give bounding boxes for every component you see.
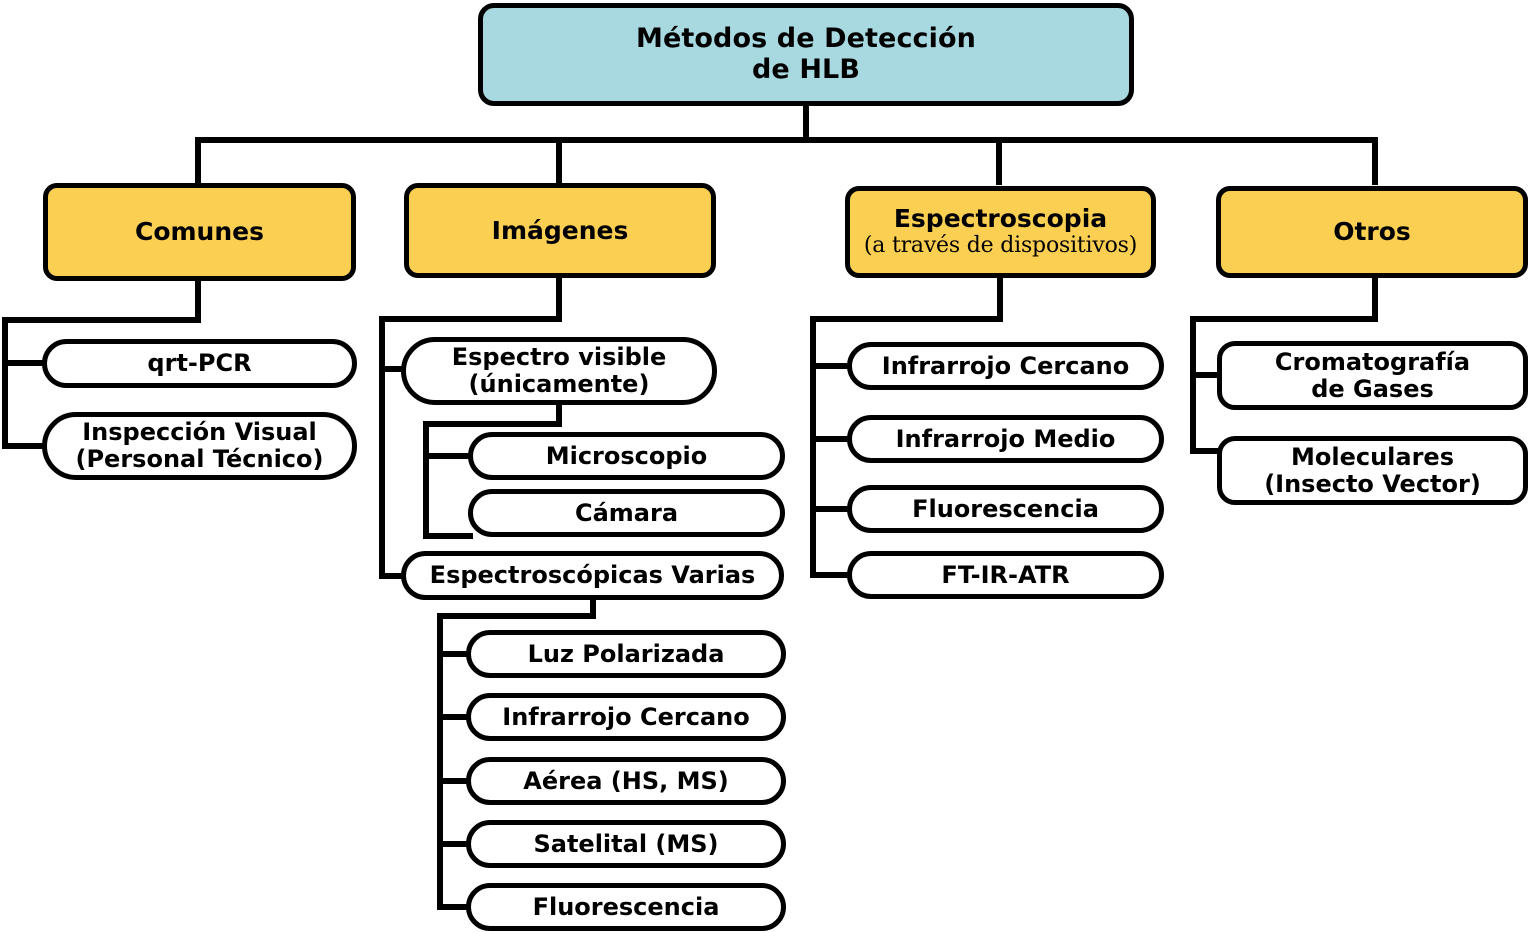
node-category-comunes-label: Comunes — [135, 218, 264, 246]
node-leaf-inspeccion-visual-line1: Inspección Visual — [82, 419, 317, 446]
diagram-canvas: Métodos de Detección de HLB Comunes qrt-… — [0, 0, 1532, 932]
node-leaf-aerea-hs-ms-label: Aérea (HS, MS) — [523, 768, 728, 795]
node-category-espectroscopia-label: Espectroscopia — [894, 205, 1107, 233]
node-leaf-infrarrojo-cercano-esp[interactable]: Infrarrojo Cercano — [847, 342, 1164, 390]
connector-otros-stem — [1372, 278, 1378, 320]
node-leaf-espectro-visible-line1: Espectro visible — [452, 344, 667, 371]
node-leaf-fluorescencia-img[interactable]: Fluorescencia — [466, 883, 786, 931]
node-category-imagenes-label: Imágenes — [492, 217, 629, 245]
node-root-metodos-deteccion-hlb[interactable]: Métodos de Detección de HLB — [478, 3, 1134, 106]
node-category-espectroscopia-subtitle: (a través de dispositivos) — [864, 234, 1137, 259]
node-leaf-camara-label: Cámara — [575, 500, 678, 527]
connector-comunes-rail — [2, 317, 8, 449]
node-category-espectroscopia[interactable]: Espectroscopia (a través de dispositivos… — [845, 186, 1156, 278]
node-leaf-fluorescencia-esp-label: Fluorescencia — [912, 496, 1099, 523]
node-leaf-moleculares-line1: Moleculares — [1291, 444, 1454, 471]
node-leaf-camara[interactable]: Cámara — [468, 489, 785, 537]
connector-drop-otros — [1372, 137, 1378, 185]
node-leaf-moleculares-insecto-vector[interactable]: Moleculares (Insecto Vector) — [1217, 436, 1528, 505]
connector-espectroscopia-tick-4 — [810, 572, 852, 578]
node-root-label-line2: de HLB — [752, 55, 860, 85]
node-leaf-qrt-pcr[interactable]: qrt-PCR — [42, 339, 357, 388]
node-category-comunes[interactable]: Comunes — [43, 183, 356, 281]
node-leaf-espectro-visible-line2: (únicamente) — [469, 371, 650, 398]
node-leaf-fluorescencia-img-label: Fluorescencia — [533, 894, 720, 921]
connector-imagenes-elbow — [379, 316, 562, 322]
node-leaf-espectroscopicas-varias-label: Espectroscópicas Varias — [430, 562, 756, 589]
connector-espectroscopicas-rail — [437, 613, 443, 910]
connector-espectroscopia-elbow — [810, 316, 1003, 322]
node-category-otros[interactable]: Otros — [1216, 186, 1528, 278]
node-leaf-espectro-visible[interactable]: Espectro visible (únicamente) — [401, 337, 717, 405]
node-root-label-line1: Métodos de Detección — [636, 24, 976, 54]
node-leaf-luz-polarizada-label: Luz Polarizada — [528, 641, 725, 668]
node-leaf-espectroscopicas-varias[interactable]: Espectroscópicas Varias — [401, 551, 784, 600]
node-leaf-ft-ir-atr-label: FT-IR-ATR — [941, 562, 1069, 589]
node-leaf-cromatografia-line2: de Gases — [1311, 376, 1434, 403]
node-leaf-cromatografia-line1: Cromatografía — [1275, 349, 1470, 376]
connector-espectro-visible-tick-2 — [423, 533, 473, 539]
node-leaf-moleculares-line2: (Insecto Vector) — [1264, 471, 1481, 498]
node-leaf-luz-polarizada[interactable]: Luz Polarizada — [466, 630, 786, 678]
connector-espectro-visible-rail — [423, 421, 429, 539]
connector-otros-rail — [1190, 316, 1196, 454]
connector-espectro-visible-tick-1 — [423, 453, 473, 459]
node-leaf-microscopio-label: Microscopio — [546, 443, 708, 470]
connector-drop-espectroscopia — [996, 137, 1002, 185]
connector-main-rail — [195, 137, 1378, 143]
node-leaf-qrt-pcr-label: qrt-PCR — [147, 350, 251, 377]
node-leaf-inspeccion-visual-line2: (Personal Técnico) — [76, 446, 324, 473]
node-leaf-infrarrojo-cercano-esp-label: Infrarrojo Cercano — [882, 353, 1129, 380]
node-leaf-fluorescencia-esp[interactable]: Fluorescencia — [847, 485, 1164, 533]
connector-espectroscopia-tick-2 — [810, 436, 852, 442]
connector-espectroscopia-rail — [810, 316, 816, 578]
node-leaf-microscopio[interactable]: Microscopio — [468, 432, 785, 480]
connector-espectroscopia-stem — [997, 278, 1003, 320]
node-leaf-cromatografia-de-gases[interactable]: Cromatografía de Gases — [1217, 341, 1528, 410]
connector-imagenes-rail — [379, 316, 385, 579]
node-leaf-infrarrojo-cercano-img-label: Infrarrojo Cercano — [502, 704, 749, 731]
connector-drop-imagenes — [556, 137, 562, 185]
connector-espectroscopia-tick-3 — [810, 506, 852, 512]
node-leaf-satelital-ms-label: Satelital (MS) — [533, 831, 718, 858]
node-leaf-aerea-hs-ms[interactable]: Aérea (HS, MS) — [466, 757, 786, 805]
node-leaf-inspeccion-visual[interactable]: Inspección Visual (Personal Técnico) — [42, 412, 357, 480]
node-leaf-infrarrojo-medio[interactable]: Infrarrojo Medio — [847, 415, 1164, 463]
node-category-otros-label: Otros — [1333, 218, 1411, 246]
connector-espectro-visible-elbow — [423, 421, 562, 427]
node-leaf-satelital-ms[interactable]: Satelital (MS) — [466, 820, 786, 868]
node-category-imagenes[interactable]: Imágenes — [404, 183, 716, 278]
node-leaf-ft-ir-atr[interactable]: FT-IR-ATR — [847, 551, 1164, 599]
connector-espectroscopia-tick-1 — [810, 363, 852, 369]
connector-otros-elbow — [1190, 316, 1378, 322]
node-leaf-infrarrojo-medio-label: Infrarrojo Medio — [896, 426, 1116, 453]
connector-drop-comunes — [195, 137, 201, 185]
connector-espectroscopicas-elbow — [437, 613, 596, 619]
connector-comunes-elbow — [2, 317, 201, 323]
node-leaf-infrarrojo-cercano-img[interactable]: Infrarrojo Cercano — [466, 693, 786, 741]
